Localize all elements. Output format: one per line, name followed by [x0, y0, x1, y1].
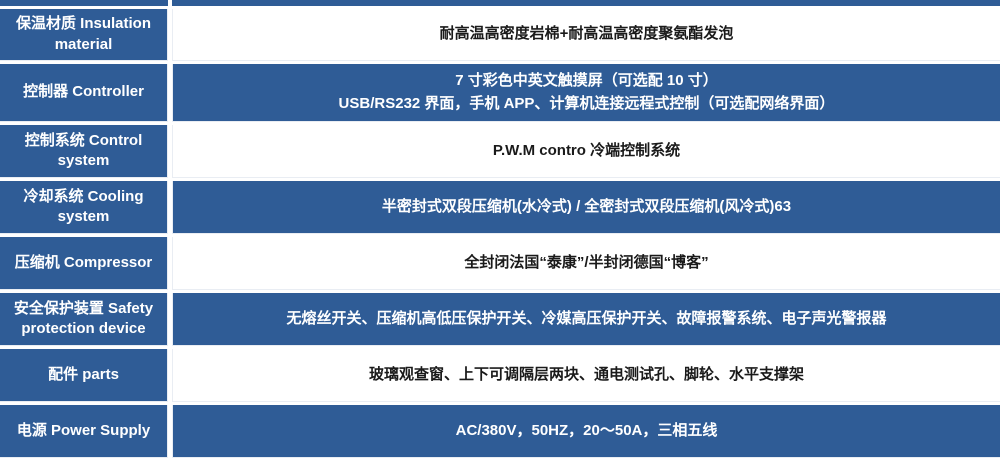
spec-value-cell: AC/380V，50HZ，20～50A，三相五线	[172, 405, 1000, 458]
spec-label-cell: 电源 Power Supply	[0, 405, 168, 458]
spec-label-cell: 压缩机 Compressor	[0, 237, 168, 290]
spec-value-cell	[172, 0, 1000, 6]
spec-value-cell: 7 寸彩色中英文触摸屏（可选配 10 寸） USB/RS232 界面，手机 AP…	[172, 64, 1000, 122]
table-row: 控制器 Controller7 寸彩色中英文触摸屏（可选配 10 寸） USB/…	[0, 64, 1000, 122]
spec-value-cell: 半密封式双段压缩机(水冷式) / 全密封式双段压缩机(风冷式)63	[172, 181, 1000, 234]
table-row: 安全保护装置 Safety protection device无熔丝开关、压缩机…	[0, 293, 1000, 346]
spec-value-cell: 玻璃观查窗、上下可调隔层两块、通电测试孔、脚轮、水平支撑架	[172, 349, 1000, 402]
spec-label-cell	[0, 0, 168, 6]
spec-value-cell: 无熔丝开关、压缩机高低压保护开关、冷媒高压保护开关、故障报警系统、电子声光警报器	[172, 293, 1000, 346]
table-row: 控制系统 Control systemP.W.M contro 冷端控制系统	[0, 125, 1000, 178]
specification-table: 保温材质 Insulation material耐高温高密度岩棉+耐高温高密度聚…	[0, 0, 1000, 458]
table-row: 保温材质 Insulation material耐高温高密度岩棉+耐高温高密度聚…	[0, 9, 1000, 61]
spec-label-cell: 配件 parts	[0, 349, 168, 402]
table-row: 电源 Power SupplyAC/380V，50HZ，20～50A，三相五线	[0, 405, 1000, 458]
spec-value-cell: 耐高温高密度岩棉+耐高温高密度聚氨酯发泡	[172, 9, 1000, 61]
spec-label-cell: 安全保护装置 Safety protection device	[0, 293, 168, 346]
table-row: 配件 parts玻璃观查窗、上下可调隔层两块、通电测试孔、脚轮、水平支撑架	[0, 349, 1000, 402]
spec-value-cell: 全封闭法国“泰康”/半封闭德国“博客”	[172, 237, 1000, 290]
spec-label-cell: 保温材质 Insulation material	[0, 9, 168, 61]
table-row: 压缩机 Compressor全封闭法国“泰康”/半封闭德国“博客”	[0, 237, 1000, 290]
table-row-partial	[0, 0, 1000, 6]
spec-value-cell: P.W.M contro 冷端控制系统	[172, 125, 1000, 178]
table-row: 冷却系统 Cooling system半密封式双段压缩机(水冷式) / 全密封式…	[0, 181, 1000, 234]
spec-label-cell: 冷却系统 Cooling system	[0, 181, 168, 234]
spec-label-cell: 控制系统 Control system	[0, 125, 168, 178]
spec-label-cell: 控制器 Controller	[0, 64, 168, 122]
